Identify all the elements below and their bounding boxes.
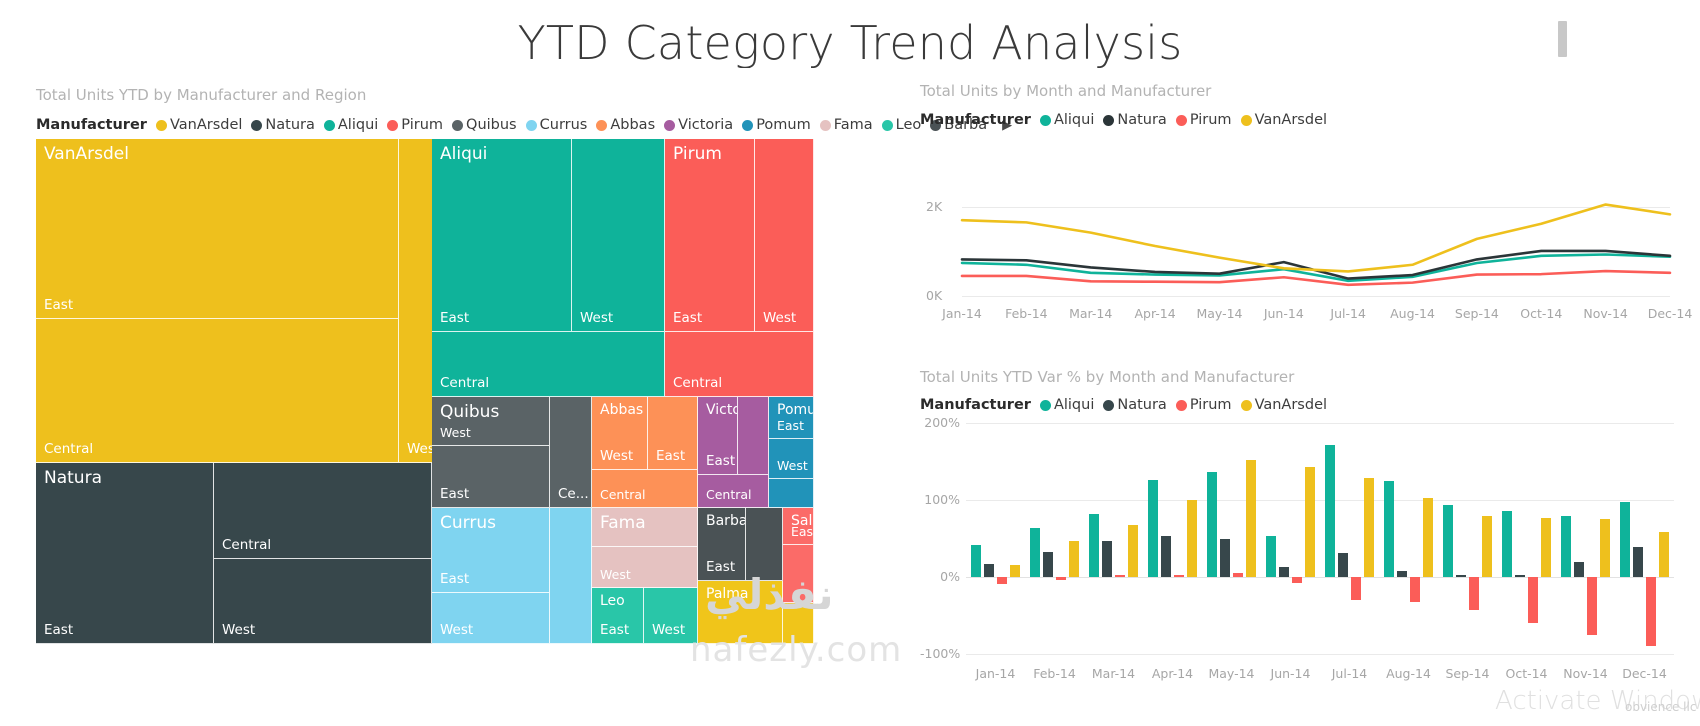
legend-item-leo[interactable]: Leo (882, 117, 922, 133)
x-axis-tick-label: Dec-14 (1647, 306, 1693, 321)
legend-color-dot (820, 120, 831, 131)
y-axis-tick-label: -100% (920, 646, 960, 661)
x-axis-tick-label: Jan-14 (939, 306, 985, 321)
bar-natura-jan-14[interactable] (984, 564, 994, 577)
legend-item-currus[interactable]: Currus (526, 117, 588, 133)
treemap-node[interactable]: West (214, 559, 432, 644)
x-axis-tick-label: Jun-14 (1261, 306, 1307, 321)
line-series-pirum (962, 271, 1670, 285)
legend-item-label: Abbas (610, 117, 655, 133)
treemap-node-region: East (440, 310, 469, 326)
x-axis-tick-label: Nov-14 (1583, 306, 1629, 321)
legend-item-label: Victoria (678, 117, 733, 133)
line-series-vanarsdel (962, 205, 1670, 272)
bar-pirum-dec-14[interactable] (1646, 577, 1656, 646)
treemap-node-region: East (440, 486, 469, 502)
treemap-node-region: East (791, 524, 814, 539)
bar-natura-oct-14[interactable] (1515, 575, 1525, 577)
treemap-node[interactable]: Central (592, 470, 698, 508)
bar-vanarsdel-feb-14[interactable] (1069, 541, 1079, 577)
legend-item-quibus[interactable]: Quibus (452, 117, 517, 133)
treemap-node[interactable] (769, 479, 814, 508)
legend-color-dot (452, 120, 463, 131)
bar-vanarsdel-aug-14[interactable] (1423, 498, 1433, 577)
x-axis-tick-label: May-14 (1202, 666, 1261, 681)
x-axis-tick-label: Oct-14 (1497, 666, 1556, 681)
bar-natura-may-14[interactable] (1220, 539, 1230, 578)
treemap-node-region: East (706, 453, 735, 469)
bar-aliqui-aug-14[interactable] (1384, 481, 1394, 577)
treemap-node-region: Central (600, 487, 646, 502)
bar-vanarsdel-may-14[interactable] (1246, 460, 1256, 577)
bar-aliqui-jan-14[interactable] (971, 545, 981, 577)
x-axis-tick-label: Nov-14 (1556, 666, 1615, 681)
treemap-node[interactable]: West (592, 547, 698, 588)
treemap-node-region: West (580, 310, 613, 326)
treemap-node-manufacturer: Pomu... (777, 402, 814, 418)
bar-aliqui-sep-14[interactable] (1443, 505, 1453, 577)
bar-aliqui-nov-14[interactable] (1561, 516, 1571, 577)
y-axis-tick-label: 0% (920, 569, 960, 584)
bar-natura-jun-14[interactable] (1279, 567, 1289, 577)
treemap-node[interactable]: Central (432, 332, 665, 397)
treemap-node-manufacturer: Victoria (706, 402, 738, 418)
legend-item-label: Leo (896, 117, 922, 133)
zero-axis-line (966, 577, 1674, 578)
bar-aliqui-dec-14[interactable] (1620, 502, 1630, 577)
bar-aliqui-apr-14[interactable] (1148, 480, 1158, 577)
treemap-node-region: East (777, 418, 804, 433)
treemap-node[interactable]: West (432, 593, 550, 644)
treemap-node-region: Central (706, 487, 752, 502)
treemap-node-region: West (777, 458, 808, 473)
treemap-node[interactable]: West (572, 139, 665, 332)
bar-pirum-jan-14[interactable] (997, 577, 1007, 584)
legend-item-aliqui[interactable]: Aliqui (324, 117, 378, 133)
bar-pirum-sep-14[interactable] (1469, 577, 1479, 610)
x-axis-tick-label: Oct-14 (1518, 306, 1564, 321)
treemap-node-manufacturer: Abbas (600, 402, 643, 418)
bar-natura-apr-14[interactable] (1161, 536, 1171, 577)
watermark-obvience: obvience llc © (1625, 700, 1700, 714)
treemap-node[interactable]: East (432, 446, 550, 508)
legend-item-label: Pirum (401, 117, 443, 133)
bar-natura-nov-14[interactable] (1574, 562, 1584, 577)
x-axis-tick-label: Apr-14 (1132, 306, 1178, 321)
bar-aliqui-mar-14[interactable] (1089, 514, 1099, 577)
legend-item-fama[interactable]: Fama (820, 117, 873, 133)
treemap-node-region: Central (440, 375, 489, 391)
x-axis-tick-label: Aug-14 (1379, 666, 1438, 681)
treemap-node-manufacturer: Currus (440, 513, 496, 533)
bar-vanarsdel-jun-14[interactable] (1305, 467, 1315, 577)
bar-aliqui-oct-14[interactable] (1502, 511, 1512, 577)
bar-vanarsdel-jan-14[interactable] (1010, 565, 1020, 577)
bar-pirum-jun-14[interactable] (1292, 577, 1302, 583)
legend-item-natura[interactable]: Natura (251, 117, 314, 133)
treemap-node-region: East (44, 622, 73, 638)
treemap-node-manufacturer: Natura (44, 468, 102, 488)
bar-pirum-apr-14[interactable] (1174, 575, 1184, 577)
x-axis-tick-label: Sep-14 (1454, 306, 1500, 321)
line-series-aliqui (962, 255, 1670, 281)
treemap-node[interactable]: East (648, 397, 698, 470)
bar-pirum-nov-14[interactable] (1587, 577, 1597, 635)
treemap-node[interactable]: LeoEast (592, 588, 644, 644)
legend-color-dot (742, 120, 753, 131)
legend-color-dot (324, 120, 335, 131)
treemap-node[interactable]: West (769, 439, 814, 479)
legend-item-label: Aliqui (338, 117, 378, 133)
treemap-node[interactable] (550, 508, 592, 644)
x-axis-tick-label: Jul-14 (1320, 666, 1379, 681)
legend-item-vanarsdel[interactable]: VanArsdel (156, 117, 242, 133)
treemap-node-region: East (656, 448, 685, 464)
legend-item-abbas[interactable]: Abbas (596, 117, 655, 133)
treemap-node[interactable]: CurrusEast (432, 508, 550, 593)
treemap-node[interactable]: Central (698, 475, 769, 508)
treemap-node-manufacturer: Fama (600, 513, 646, 533)
bar-natura-jul-14[interactable] (1338, 553, 1348, 577)
bar-vanarsdel-jul-14[interactable] (1364, 478, 1374, 577)
gridline (966, 500, 1674, 501)
bar-pirum-feb-14[interactable] (1056, 577, 1066, 580)
treemap-node-region: East (600, 622, 629, 638)
treemap-node-region: Central (222, 537, 271, 553)
legend-color-dot (882, 120, 893, 131)
legend-color-dot (664, 120, 675, 131)
x-axis-tick-label: Mar-14 (1068, 306, 1114, 321)
treemap-node-region: West (652, 622, 685, 638)
treemap-node-region: West (222, 622, 255, 638)
bar-vanarsdel-apr-14[interactable] (1187, 500, 1197, 577)
bar-natura-dec-14[interactable] (1633, 547, 1643, 577)
treemap-node[interactable]: AbbasWest (592, 397, 648, 470)
treemap-node-region: West (440, 622, 473, 638)
legend-color-dot (387, 120, 398, 131)
bar-pirum-may-14[interactable] (1233, 573, 1243, 577)
treemap-node-region: West (440, 425, 471, 440)
x-axis-tick-label: Jun-14 (1261, 666, 1320, 681)
treemap-legend[interactable]: Manufacturer VanArsdelNaturaAliquiPirumQ… (36, 117, 1012, 133)
bar-aliqui-feb-14[interactable] (1030, 528, 1040, 577)
x-axis-tick-label: Feb-14 (1025, 666, 1084, 681)
x-axis-tick-label: Apr-14 (1143, 666, 1202, 681)
bar-natura-aug-14[interactable] (1397, 571, 1407, 577)
x-axis-tick-label: Mar-14 (1084, 666, 1143, 681)
treemap-node[interactable]: Central (214, 463, 432, 559)
dashboard-root: YTD Category Trend Analysis Total Units … (0, 0, 1700, 726)
legend-color-dot (596, 120, 607, 131)
x-axis-tick-label: Jul-14 (1325, 306, 1371, 321)
treemap-node[interactable]: Central (36, 319, 399, 463)
bar-pirum-mar-14[interactable] (1115, 575, 1125, 577)
line-chart[interactable]: 0K2KJan-14Feb-14Mar-14Apr-14May-14Jun-14… (920, 80, 1680, 340)
bar-vanarsdel-dec-14[interactable] (1659, 532, 1669, 577)
treemap-node[interactable]: Ce... (550, 397, 592, 508)
treemap-legend-header: Manufacturer (36, 117, 147, 133)
bar-pirum-aug-14[interactable] (1410, 577, 1420, 602)
treemap-node[interactable]: Central (665, 332, 814, 397)
treemap-node-region: Central (673, 375, 722, 391)
treemap-node[interactable]: Pomu...East (769, 397, 814, 439)
treemap-node[interactable]: VictoriaEast (698, 397, 738, 475)
treemap-chart[interactable]: VanArsdelEastCentralWestNaturaEastCentra… (36, 139, 890, 644)
treemap-node-region: Central (44, 441, 93, 457)
bar-chart[interactable]: -100%0%100%200%Jan-14Feb-14Mar-14Apr-14M… (920, 365, 1680, 720)
treemap-node[interactable] (738, 397, 769, 475)
legend-item-label: Fama (834, 117, 873, 133)
treemap-node-region: East (673, 310, 702, 326)
watermark-arabic: نفذلي (705, 570, 834, 619)
legend-item-pomum[interactable]: Pomum (742, 117, 811, 133)
x-axis-tick-label: Jan-14 (966, 666, 1025, 681)
treemap-node[interactable]: PirumEast (665, 139, 755, 332)
bar-natura-sep-14[interactable] (1456, 575, 1466, 577)
legend-color-dot (156, 120, 167, 131)
bar-vanarsdel-mar-14[interactable] (1128, 525, 1138, 577)
treemap-node-manufacturer: Aliqui (440, 144, 487, 164)
bar-pirum-jul-14[interactable] (1351, 577, 1361, 600)
treemap-node-region: West (600, 448, 633, 464)
bar-natura-mar-14[interactable] (1102, 541, 1112, 577)
treemap-title: Total Units YTD by Manufacturer and Regi… (36, 86, 366, 104)
bar-pirum-oct-14[interactable] (1528, 577, 1538, 623)
treemap-node-region: Ce... (558, 486, 589, 502)
treemap-node[interactable]: AliquiEast (432, 139, 572, 332)
treemap-node[interactable]: NaturaEast (36, 463, 214, 644)
gridline (966, 654, 1674, 655)
legend-color-dot (251, 120, 262, 131)
x-axis-tick-label: Aug-14 (1390, 306, 1436, 321)
legend-item-label: Currus (540, 117, 588, 133)
bar-aliqui-jul-14[interactable] (1325, 445, 1335, 577)
bar-vanarsdel-sep-14[interactable] (1482, 516, 1492, 577)
line-chart-plot (920, 80, 1680, 340)
gridline (966, 423, 1674, 424)
treemap-node[interactable]: VanArsdelEast (36, 139, 399, 319)
vertical-scrollbar-thumb[interactable] (1558, 21, 1567, 57)
page-title: YTD Category Trend Analysis (0, 16, 1700, 68)
treemap-node[interactable]: Fama (592, 508, 698, 547)
legend-item-pirum[interactable]: Pirum (387, 117, 443, 133)
page-title-container: YTD Category Trend Analysis (0, 8, 1700, 68)
bar-vanarsdel-oct-14[interactable] (1541, 518, 1551, 577)
treemap-node-region: West (600, 567, 631, 582)
watermark-latin: nafezly.com (690, 630, 902, 670)
legend-item-victoria[interactable]: Victoria (664, 117, 733, 133)
legend-item-label: Pomum (756, 117, 811, 133)
treemap-node-manufacturer: VanArsdel (44, 144, 129, 164)
y-axis-tick-label: 100% (920, 492, 960, 507)
treemap-node[interactable]: Sal...East (783, 508, 814, 545)
treemap-node-region: East (440, 571, 469, 587)
treemap-node-region: East (44, 297, 73, 313)
treemap-node-manufacturer: Pirum (673, 144, 722, 164)
treemap-node-region: West (763, 310, 796, 326)
x-axis-tick-label: Sep-14 (1438, 666, 1497, 681)
legend-color-dot (526, 120, 537, 131)
treemap-node-manufacturer: Barba (706, 513, 746, 529)
treemap-node-manufacturer: Quibus (440, 402, 499, 422)
legend-item-label: Natura (265, 117, 314, 133)
x-axis-tick-label: Dec-14 (1615, 666, 1674, 681)
bar-aliqui-jun-14[interactable] (1266, 536, 1276, 577)
legend-item-label: Quibus (466, 117, 517, 133)
x-axis-tick-label: Feb-14 (1003, 306, 1049, 321)
bar-natura-feb-14[interactable] (1043, 552, 1053, 577)
y-axis-tick-label: 200% (920, 415, 960, 430)
legend-item-label: VanArsdel (170, 117, 242, 133)
treemap-node[interactable]: QuibusWest (432, 397, 550, 446)
treemap-node-manufacturer: Leo (600, 593, 625, 609)
bar-aliqui-may-14[interactable] (1207, 472, 1217, 577)
x-axis-tick-label: May-14 (1196, 306, 1242, 321)
treemap-node[interactable]: West (755, 139, 814, 332)
bar-vanarsdel-nov-14[interactable] (1600, 519, 1610, 577)
